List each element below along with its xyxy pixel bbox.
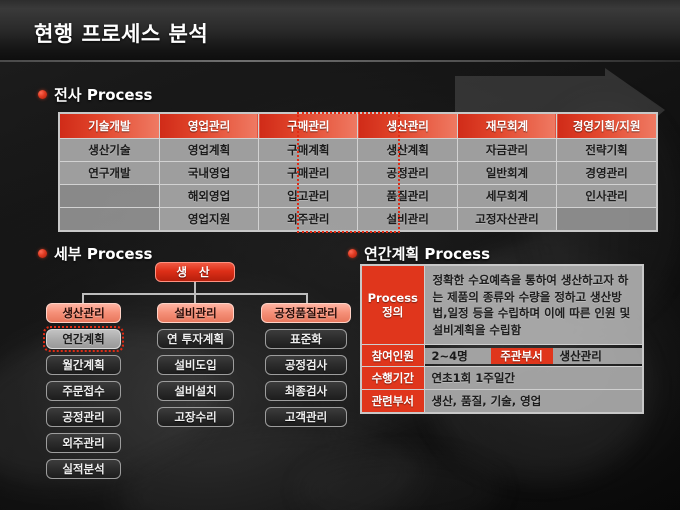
table-cell: 생산기술 <box>60 138 159 161</box>
org-node-final-inspection[interactable]: 최종검사 <box>265 381 347 401</box>
org-node-equipment-introduction[interactable]: 설비도입 <box>157 355 234 375</box>
org-node-outsourcing-mgmt[interactable]: 외주관리 <box>46 433 121 453</box>
column-header-planning: 경영기획/지원 <box>557 114 656 138</box>
owner-department-key: 주관부서 <box>491 348 553 364</box>
org-category-process-quality[interactable]: 공정품질관리 <box>261 303 351 323</box>
section-heading-label: 연간계획 Process <box>364 243 490 264</box>
table-cell: 공정관리 <box>358 161 457 184</box>
org-category-production[interactable]: 생산관리 <box>46 303 121 323</box>
page-title: 현행 프로세스 분석 <box>34 18 208 48</box>
table-cell: 자금관리 <box>457 138 556 161</box>
row-key-participants: 참여인원 <box>362 345 424 367</box>
table-cell-empty <box>557 207 656 230</box>
org-node-customer-mgmt[interactable]: 고객관리 <box>265 407 347 427</box>
section-heading-label: 세부 Process <box>54 243 152 264</box>
table-cell: 외주관리 <box>259 207 358 230</box>
table-cell: 해외영업 <box>159 184 258 207</box>
row-key-related-departments: 관련부서 <box>362 390 424 413</box>
table-cell: 설비관리 <box>358 207 457 230</box>
org-node-order-receipt[interactable]: 주문접수 <box>46 381 121 401</box>
table-row-definition: Process 정의 정확한 수요예측을 통하여 생산하고자 하는 제품의 종류… <box>362 266 642 345</box>
red-dot-bullet-icon <box>38 90 47 99</box>
org-connector <box>82 293 84 303</box>
column-header-sales: 영업관리 <box>159 114 258 138</box>
table-row: 생산기술 영업계획 구매계획 생산계획 자금관리 전략기획 <box>60 138 656 161</box>
section-heading-label: 전사 Process <box>54 84 152 105</box>
detail-process-org-chart: 생 산 생산관리 연간계획 월간계획 주문접수 공정관리 외주관리 실적분석 설… <box>46 262 346 492</box>
table-cell: 전략기획 <box>557 138 656 161</box>
table-cell: 인사관리 <box>557 184 656 207</box>
row-key-process-definition: Process 정의 <box>362 266 424 345</box>
column-header-finance: 재무회계 <box>457 114 556 138</box>
table-row-related: 관련부서 생산, 품질, 기술, 영업 <box>362 390 642 413</box>
table-cell: 구매관리 <box>259 161 358 184</box>
table-cell: 연구개발 <box>60 161 159 184</box>
org-node-annual-investment-plan[interactable]: 연 투자계획 <box>157 329 234 349</box>
table-cell: 국내영업 <box>159 161 258 184</box>
slide-title-bar: 현행 프로세스 분석 <box>0 0 680 62</box>
enterprise-process-table: 기술개발 영업관리 구매관리 생산관리 재무회계 경영기획/지원 생산기술 영업… <box>58 112 658 232</box>
section-heading-detail: 세부 Process <box>38 243 152 264</box>
row-key-line2: 정의 <box>363 305 423 319</box>
org-node-performance-analysis[interactable]: 실적분석 <box>46 459 121 479</box>
annual-plan-detail-table: Process 정의 정확한 수요예측을 통하여 생산하고자 하는 제품의 종류… <box>360 264 644 414</box>
column-header-purchase: 구매관리 <box>259 114 358 138</box>
column-header-tech: 기술개발 <box>60 114 159 138</box>
table-row: 영업지원 외주관리 설비관리 고정자산관리 <box>60 207 656 230</box>
org-node-equipment-installation[interactable]: 설비설치 <box>157 381 234 401</box>
table-header-row: 기술개발 영업관리 구매관리 생산관리 재무회계 경영기획/지원 <box>60 114 656 138</box>
row-key-line1: Process <box>363 291 423 305</box>
table-row-participants: 참여인원 2~4명 주관부서 생산관리 <box>362 345 642 367</box>
owner-department-value: 생산관리 <box>553 348 643 364</box>
slide-canvas: 현행 프로세스 분석 전사 Process 기술개발 영업관리 구매관리 생산관… <box>0 0 680 510</box>
red-dot-bullet-icon <box>38 249 47 258</box>
table-cell: 경영관리 <box>557 161 656 184</box>
table-cell: 세무회계 <box>457 184 556 207</box>
row-key-duration: 수행기간 <box>362 367 424 390</box>
table-cell-empty <box>60 184 159 207</box>
org-root-node[interactable]: 생 산 <box>155 262 235 282</box>
org-node-breakdown-repair[interactable]: 고장수리 <box>157 407 234 427</box>
table-row: 해외영업 입고관리 품질관리 세무회계 인사관리 <box>60 184 656 207</box>
column-header-production: 생산관리 <box>358 114 457 138</box>
table-cell: 고정자산관리 <box>457 207 556 230</box>
table-cell: 영업지원 <box>159 207 258 230</box>
table-row: 연구개발 국내영업 구매관리 공정관리 일반회계 경영관리 <box>60 161 656 184</box>
table-row-duration: 수행기간 연초1회 1주일간 <box>362 367 642 390</box>
org-node-standardization[interactable]: 표준화 <box>265 329 347 349</box>
row-value-participants-owner: 2~4명 주관부서 생산관리 <box>424 345 642 367</box>
org-node-monthly-plan[interactable]: 월간계획 <box>46 355 121 375</box>
table-cell: 생산계획 <box>358 138 457 161</box>
table-cell: 입고관리 <box>259 184 358 207</box>
table-cell: 일반회계 <box>457 161 556 184</box>
participants-value: 2~4명 <box>425 348 491 364</box>
org-connector <box>194 293 196 303</box>
row-value-process-definition: 정확한 수요예측을 통하여 생산하고자 하는 제품의 종류와 수량을 정하고 생… <box>424 266 642 345</box>
org-node-process-mgmt[interactable]: 공정관리 <box>46 407 121 427</box>
table-cell: 구매계획 <box>259 138 358 161</box>
section-heading-annual: 연간계획 Process <box>348 243 490 264</box>
org-node-process-inspection[interactable]: 공정검사 <box>265 355 347 375</box>
table-cell: 영업계획 <box>159 138 258 161</box>
table-cell: 품질관리 <box>358 184 457 207</box>
table-cell-empty <box>60 207 159 230</box>
row-value-related-departments: 생산, 품질, 기술, 영업 <box>424 390 642 413</box>
org-node-annual-plan[interactable]: 연간계획 <box>46 329 121 349</box>
org-connector <box>194 282 196 293</box>
row-value-duration: 연초1회 1주일간 <box>424 367 642 390</box>
org-connector <box>306 293 308 303</box>
section-heading-enterprise: 전사 Process <box>38 84 152 105</box>
red-dot-bullet-icon <box>348 249 357 258</box>
org-category-equipment[interactable]: 설비관리 <box>157 303 234 323</box>
